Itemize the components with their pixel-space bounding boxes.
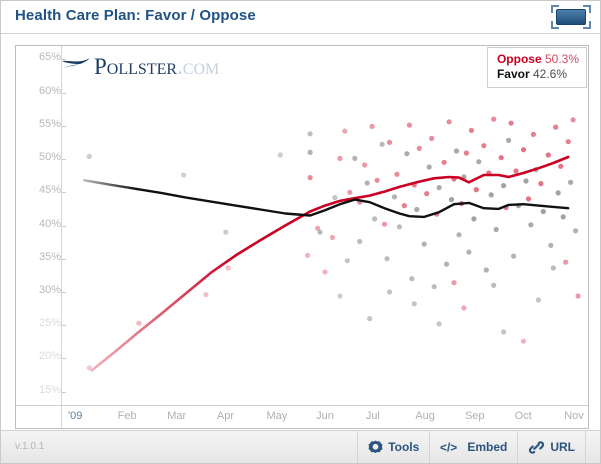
- scatter-point: [330, 235, 335, 240]
- scatter-point: [474, 187, 479, 192]
- y-axis-tick-label: 30%: [39, 284, 61, 296]
- scatter-point: [382, 222, 387, 227]
- embed-button[interactable]: </> Embed: [429, 431, 517, 463]
- scatter-point: [509, 121, 514, 126]
- scatter-point: [499, 155, 504, 160]
- y-axis-tick-label: 15%: [39, 384, 61, 396]
- y-axis-tick: 55%: [19, 118, 61, 130]
- scatter-point: [444, 262, 449, 267]
- x-axis-tick-label: Feb: [118, 410, 137, 422]
- scatter-point: [372, 216, 377, 221]
- scatter-point: [387, 289, 392, 294]
- scatter-point: [541, 209, 546, 214]
- scatter-point: [87, 154, 92, 159]
- pollster-chart-widget: Health Care Plan: Favor / Oppose Pollste…: [0, 0, 601, 464]
- scatter-point: [387, 140, 392, 145]
- url-button[interactable]: URL: [517, 431, 586, 463]
- scatter-point: [332, 195, 337, 200]
- y-axis-tick: 20%: [19, 350, 61, 362]
- y-axis-tick-label: 55%: [39, 118, 61, 130]
- x-axis-tick-label: '09: [68, 410, 82, 422]
- y-axis-tick-label: 35%: [39, 251, 61, 263]
- plot-svg: [62, 46, 588, 405]
- scatter-point: [384, 256, 389, 261]
- scatter-point: [553, 125, 558, 130]
- scatter-point: [538, 181, 543, 186]
- scatter-point: [563, 260, 568, 265]
- scatter-point: [481, 143, 486, 148]
- scatter-point: [203, 292, 208, 297]
- scatter-point: [414, 207, 419, 212]
- scatter-point: [464, 150, 469, 155]
- scatter-point: [558, 164, 563, 169]
- plot-area[interactable]: [62, 46, 588, 405]
- trend-line-favor-faded: [84, 180, 136, 189]
- scatter-point: [484, 267, 489, 272]
- scatter-point: [402, 203, 407, 208]
- scatter-point: [501, 329, 506, 334]
- scatter-point: [397, 224, 402, 229]
- scatter-point: [308, 150, 313, 155]
- scatter-point: [337, 293, 342, 298]
- scatter-point: [511, 254, 516, 259]
- scatter-point: [424, 191, 429, 196]
- scatter-point: [531, 132, 536, 137]
- scatter-point: [548, 243, 553, 248]
- scatter-point: [489, 192, 494, 197]
- x-axis-tick-label: Jul: [366, 410, 380, 422]
- x-axis-tick-label: Mar: [167, 410, 186, 422]
- y-axis-tick-label: 65%: [39, 51, 61, 63]
- scatter-point: [367, 316, 372, 321]
- scatter-point: [432, 284, 437, 289]
- y-axis-tick: 40%: [19, 218, 61, 230]
- scatter-point: [528, 222, 533, 227]
- scatter-point: [342, 129, 347, 134]
- gear-icon: [368, 440, 383, 455]
- scatter-point: [362, 162, 367, 167]
- tools-label: Tools: [388, 440, 419, 454]
- tools-button[interactable]: Tools: [357, 431, 429, 463]
- scatter-point: [136, 321, 141, 326]
- chart-frame: Pollster.com Oppose 50.3% Favor 42.6% 15…: [15, 45, 589, 429]
- scatter-point: [365, 180, 370, 185]
- scatter-point: [437, 321, 442, 326]
- scatter-point: [317, 230, 322, 235]
- scatter-point: [449, 197, 454, 202]
- y-axis-tick-label: 60%: [39, 85, 61, 97]
- scatter-point: [447, 119, 452, 124]
- scatter-point: [181, 172, 186, 177]
- scatter-point: [394, 172, 399, 177]
- y-axis-tick-label: 25%: [39, 317, 61, 329]
- scatter-point: [501, 183, 506, 188]
- x-axis-tick-label: Nov: [564, 410, 584, 422]
- scatter-point: [337, 156, 342, 161]
- scatter-point: [536, 297, 541, 302]
- scatter-point: [347, 190, 352, 195]
- x-axis-tick-label: Oct: [515, 410, 532, 422]
- y-axis: 15%20%25%30%35%40%45%50%55%60%65%: [16, 46, 61, 428]
- x-axis-tick-label: May: [266, 410, 287, 422]
- scatter-point: [451, 280, 456, 285]
- y-axis-tick: 35%: [19, 251, 61, 263]
- svg-text:</>: </>: [440, 441, 457, 454]
- y-axis-tick: 25%: [19, 317, 61, 329]
- scatter-point: [546, 152, 551, 157]
- scatter-point: [357, 239, 362, 244]
- y-axis-tick-label: 20%: [39, 350, 61, 362]
- scatter-point: [476, 159, 481, 164]
- x-axis-divider: [16, 405, 588, 406]
- y-axis-tick: 45%: [19, 184, 61, 196]
- scatter-point: [526, 196, 531, 201]
- toolbar: Tools </> Embed URL: [357, 431, 586, 463]
- scatter-point: [278, 152, 283, 157]
- y-axis-tick: 50%: [19, 151, 61, 163]
- scatter-point: [456, 232, 461, 237]
- scatter-point: [412, 301, 417, 306]
- scatter-point: [380, 142, 385, 147]
- link-icon: [528, 440, 545, 455]
- scatter-point: [566, 139, 571, 144]
- scatter-point: [352, 156, 357, 161]
- scatter-point: [561, 214, 566, 219]
- scatter-point: [422, 242, 427, 247]
- scatter-point: [375, 178, 380, 183]
- y-axis-tick: 15%: [19, 384, 61, 396]
- scatter-point: [573, 228, 578, 233]
- trend-line-favor: [136, 189, 568, 217]
- x-axis-tick-label: Apr: [217, 410, 234, 422]
- scatter-point: [571, 117, 576, 122]
- scatter-point: [429, 136, 434, 141]
- scatter-point: [469, 128, 474, 133]
- embed-label: Embed: [467, 440, 507, 454]
- scatter-point: [551, 265, 556, 270]
- fullscreen-icon[interactable]: [551, 5, 591, 29]
- scatter-point: [491, 283, 496, 288]
- scatter-point: [471, 216, 476, 221]
- scatter-point: [506, 138, 511, 143]
- scatter-point: [523, 178, 528, 183]
- scatter-point: [305, 253, 310, 258]
- scatter-point: [556, 190, 561, 195]
- scatter-point: [308, 175, 313, 180]
- scatter-point: [345, 258, 350, 263]
- y-axis-tick: 60%: [19, 85, 61, 97]
- scatter-point: [513, 168, 518, 173]
- trend-line-oppose-faded: [92, 255, 236, 370]
- scatter-point: [409, 276, 414, 281]
- scatter-point: [223, 230, 228, 235]
- scatter-point: [322, 269, 327, 274]
- x-axis-tick-label: Sep: [465, 410, 485, 422]
- scatter-point: [427, 164, 432, 169]
- scatter-point: [226, 265, 231, 270]
- page-title: Health Care Plan: Favor / Oppose: [15, 7, 256, 24]
- scatter-point: [491, 117, 496, 122]
- screen-rect: [556, 9, 586, 25]
- scatter-point: [404, 151, 409, 156]
- y-axis-tick-label: 50%: [39, 151, 61, 163]
- version-label: v.1.0.1: [15, 441, 44, 452]
- code-icon: </>: [440, 441, 462, 454]
- y-axis-tick-label: 45%: [39, 184, 61, 196]
- url-label: URL: [550, 440, 575, 454]
- scatter-point: [437, 185, 442, 190]
- x-axis-tick-label: Jun: [316, 410, 334, 422]
- scatter-point: [466, 250, 471, 255]
- scatter-point: [494, 227, 499, 232]
- scatter-point: [442, 160, 447, 165]
- y-axis-tick-label: 40%: [39, 218, 61, 230]
- scatter-point: [454, 148, 459, 153]
- footer-toolbar: v.1.0.1 Tools </> Embed: [1, 430, 600, 463]
- scatter-point: [392, 194, 397, 199]
- scatter-point: [568, 180, 573, 185]
- scatter-point: [370, 124, 375, 129]
- scatter-point: [417, 146, 422, 151]
- scatter-point: [521, 147, 526, 152]
- scatter-point: [407, 123, 412, 128]
- scatter-point: [308, 131, 313, 136]
- scatter-point: [461, 305, 466, 310]
- x-axis-tick-label: Aug: [415, 410, 435, 422]
- y-axis-tick: 65%: [19, 51, 61, 63]
- titlebar: Health Care Plan: Favor / Oppose: [1, 1, 600, 34]
- scatter-point: [576, 293, 581, 298]
- y-axis-tick: 30%: [19, 284, 61, 296]
- scatter-point: [521, 339, 526, 344]
